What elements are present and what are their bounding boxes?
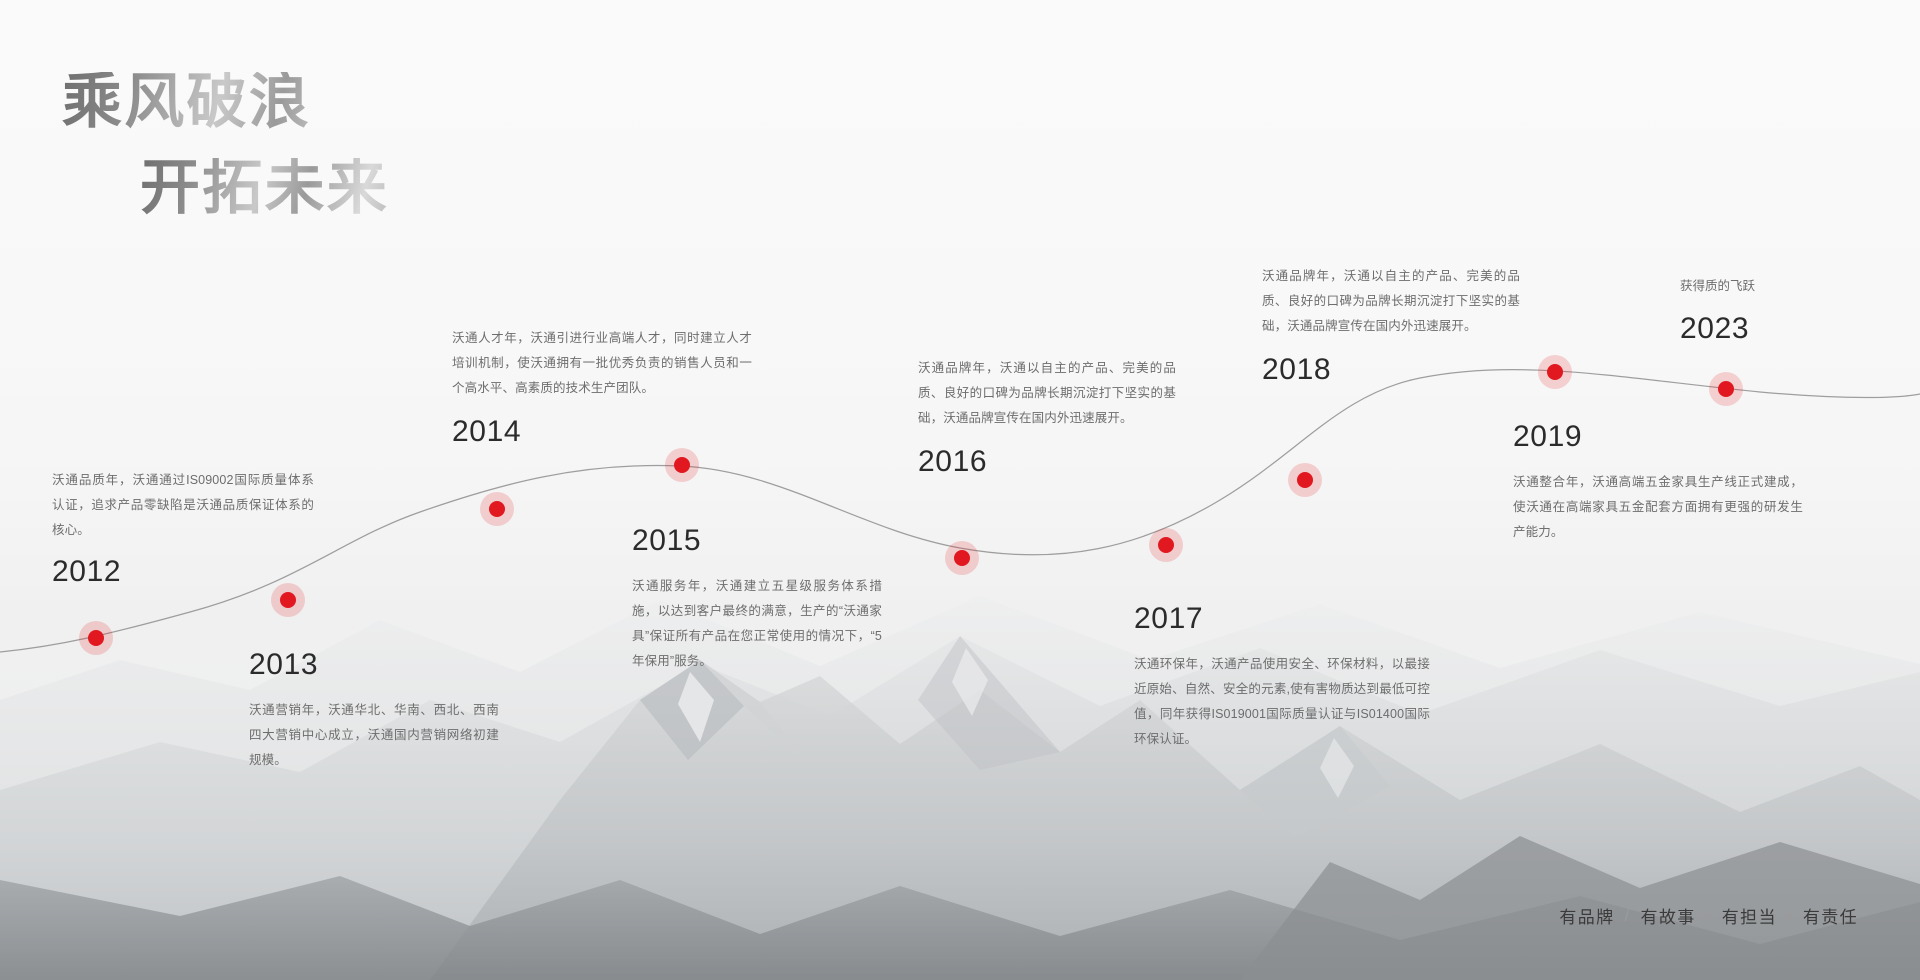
entry-year: 2018 (1262, 355, 1520, 385)
entry-description: 沃通整合年，沃通高端五金家具生产线正式建成，使沃通在高端家具五金配套方面拥有更强… (1513, 470, 1803, 545)
timeline-marker-2016[interactable] (945, 541, 979, 575)
entry-year: 2023 (1680, 314, 1880, 344)
marker-dot-icon (280, 592, 296, 608)
entry-year: 2017 (1134, 604, 1430, 634)
entry-year: 2014 (452, 417, 752, 447)
marker-dot-icon (1547, 364, 1563, 380)
slogan-separator: / (1624, 906, 1630, 926)
timeline-marker-2012[interactable] (79, 621, 113, 655)
footer-slogan: 有品牌 / 有故事 / 有担当 / 有责任 (1559, 903, 1858, 928)
entry-year: 2019 (1513, 422, 1803, 452)
timeline-marker-2019[interactable] (1538, 355, 1572, 389)
entry-year: 2016 (918, 447, 1176, 477)
timeline-marker-2017[interactable] (1149, 528, 1183, 562)
entry-description: 沃通营销年，沃通华北、华南、西北、西南四大营销中心成立，沃通国内营销网络初建规模… (249, 698, 499, 773)
timeline-poster: 乘风破浪 开拓未来 (0, 0, 1920, 980)
timeline-entry-2015: 2015 沃通服务年，沃通建立五星级服务体系措施，以达到客户最终的满意，生产的“… (632, 516, 882, 674)
title-line-1: 乘风破浪 (62, 72, 389, 132)
timeline-entry-2013: 2013 沃通营销年，沃通华北、华南、西北、西南四大营销中心成立，沃通国内营销网… (249, 640, 499, 773)
timeline-marker-2013[interactable] (271, 583, 305, 617)
entry-description: 获得质的飞跃 (1680, 275, 1880, 298)
marker-dot-icon (1158, 537, 1174, 553)
marker-dot-icon (674, 457, 690, 473)
entry-description: 沃通人才年，沃通引进行业高端人才，同时建立人才培训机制，使沃通拥有一批优秀负责的… (452, 326, 752, 401)
entry-year: 2013 (249, 650, 499, 680)
timeline-marker-2018[interactable] (1288, 463, 1322, 497)
entry-description: 沃通品牌年，沃通以自主的产品、完美的品质、良好的口碑为品牌长期沉淀打下坚实的基础… (918, 356, 1176, 431)
slogan-item-1: 有品牌 (1559, 903, 1614, 928)
marker-dot-icon (489, 501, 505, 517)
timeline-entry-2016: 沃通品牌年，沃通以自主的产品、完美的品质、良好的口碑为品牌长期沉淀打下坚实的基础… (918, 356, 1176, 477)
timeline-entry-2012: 沃通品质年，沃通通过IS09002国际质量体系认证，追求产品零缺陷是沃通品质保证… (52, 468, 314, 587)
timeline-entry-2017: 2017 沃通环保年，沃通产品使用安全、环保材料，以最接近原始、自然、安全的元素… (1134, 594, 1430, 752)
timeline-marker-2014[interactable] (480, 492, 514, 526)
slogan-separator: / (1706, 906, 1712, 926)
marker-dot-icon (954, 550, 970, 566)
entry-description: 沃通品牌年，沃通以自主的产品、完美的品质、良好的口碑为品牌长期沉淀打下坚实的基础… (1262, 264, 1520, 339)
slogan-item-3: 有担当 (1722, 903, 1777, 928)
timeline-entry-2023: 获得质的飞跃 2023 (1680, 275, 1880, 344)
timeline-entry-2014: 沃通人才年，沃通引进行业高端人才，同时建立人才培训机制，使沃通拥有一批优秀负责的… (452, 326, 752, 447)
title-line-2: 开拓未来 (140, 158, 389, 218)
entry-description: 沃通环保年，沃通产品使用安全、环保材料，以最接近原始、自然、安全的元素,使有害物… (1134, 652, 1430, 752)
marker-dot-icon (88, 630, 104, 646)
timeline-entry-2018: 沃通品牌年，沃通以自主的产品、完美的品质、良好的口碑为品牌长期沉淀打下坚实的基础… (1262, 264, 1520, 385)
entry-year: 2012 (52, 557, 314, 587)
entry-year: 2015 (632, 526, 882, 556)
slogan-separator: / (1787, 906, 1793, 926)
marker-dot-icon (1297, 472, 1313, 488)
entry-description: 沃通品质年，沃通通过IS09002国际质量体系认证，追求产品零缺陷是沃通品质保证… (52, 468, 314, 543)
timeline-entry-2019: 2019 沃通整合年，沃通高端五金家具生产线正式建成，使沃通在高端家具五金配套方… (1513, 412, 1803, 545)
marker-dot-icon (1718, 381, 1734, 397)
timeline-marker-2023[interactable] (1709, 372, 1743, 406)
entry-description: 沃通服务年，沃通建立五星级服务体系措施，以达到客户最终的满意，生产的“沃通家具”… (632, 574, 882, 674)
slogan-item-4: 有责任 (1803, 903, 1858, 928)
timeline-marker-2015[interactable] (665, 448, 699, 482)
page-title: 乘风破浪 开拓未来 (62, 72, 389, 218)
slogan-item-2: 有故事 (1641, 903, 1696, 928)
